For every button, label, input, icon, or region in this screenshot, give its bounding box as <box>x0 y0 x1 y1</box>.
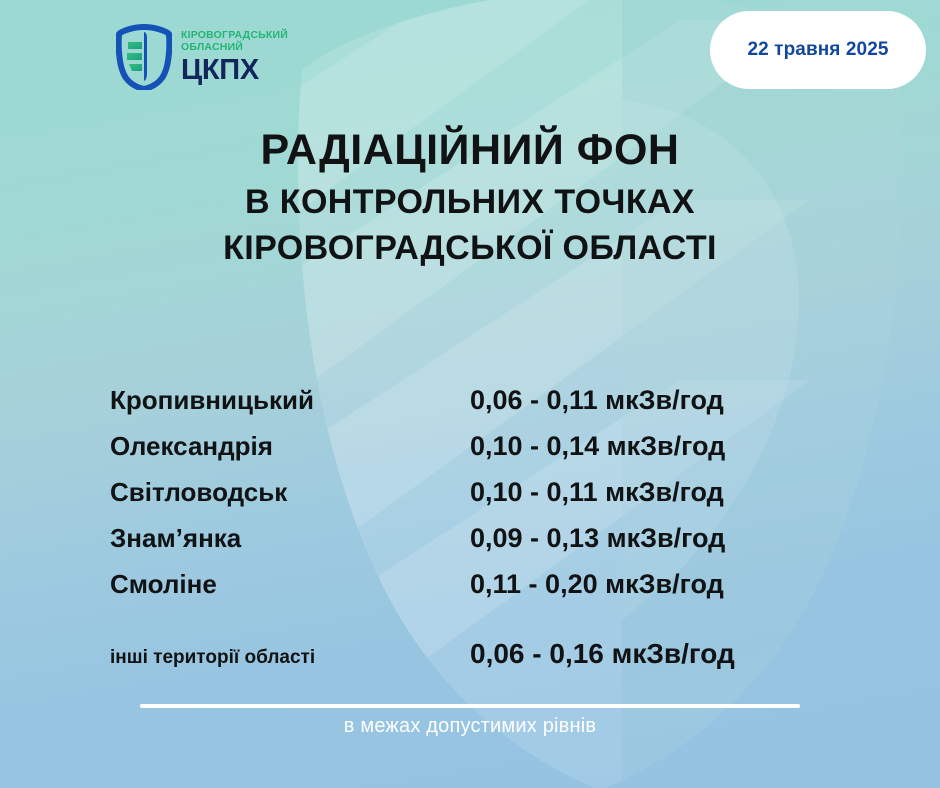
date-badge-text: 22 травня 2025 <box>747 39 888 61</box>
location-label: Світловодськ <box>110 477 470 508</box>
divider <box>140 704 800 708</box>
logo-acronym: ЦКПХ <box>181 56 288 85</box>
location-label: інші території області <box>110 647 470 669</box>
page-title: РАДІАЦІЙНИЙ ФОН В КОНТРОЛЬНИХ ТОЧКАХ КІР… <box>0 126 940 271</box>
reading-value: 0,06 - 0,11 мкЗв/год <box>470 385 724 416</box>
title-line-1: РАДІАЦІЙНИЙ ФОН <box>0 126 940 174</box>
location-label: Знам’янка <box>110 523 470 554</box>
table-row: Світловодськ 0,10 - 0,11 мкЗв/год <box>110 477 850 523</box>
reading-value: 0,09 - 0,13 мкЗв/год <box>470 523 725 554</box>
reading-value: 0,06 - 0,16 мкЗв/год <box>470 638 735 670</box>
location-label: Кропивницький <box>110 385 470 416</box>
table-row: Кропивницький 0,06 - 0,11 мкЗв/год <box>110 385 850 431</box>
footnote: в межах допустимих рівнів <box>0 715 940 738</box>
reading-value: 0,11 - 0,20 мкЗв/год <box>470 569 724 600</box>
organisation-logo: КІРОВОГРАДСЬКИЙ ОБЛАСНИЙ ЦКПХ <box>116 24 288 90</box>
title-line-2: В КОНТРОЛЬНИХ ТОЧКАХ <box>0 180 940 224</box>
table-row: Смоліне 0,11 - 0,20 мкЗв/год <box>110 569 850 615</box>
readings-table: Кропивницький 0,06 - 0,11 мкЗв/год Олекс… <box>110 385 850 680</box>
infographic-poster: КІРОВОГРАДСЬКИЙ ОБЛАСНИЙ ЦКПХ 22 травня … <box>0 0 940 788</box>
logo-subtitle-line2: ОБЛАСНИЙ <box>181 41 288 53</box>
table-row: Олександрія 0,10 - 0,14 мкЗв/год <box>110 431 850 477</box>
logo-wordmark: КІРОВОГРАДСЬКИЙ ОБЛАСНИЙ ЦКПХ <box>181 29 288 86</box>
shield-logo-icon <box>116 24 172 90</box>
date-badge: 22 травня 2025 <box>710 11 926 89</box>
location-label: Смоліне <box>110 569 470 600</box>
reading-value: 0,10 - 0,11 мкЗв/год <box>470 477 724 508</box>
logo-subtitle-line1: КІРОВОГРАДСЬКИЙ <box>181 29 288 41</box>
title-line-3: КІРОВОГРАДСЬКОЇ ОБЛАСТІ <box>0 226 940 270</box>
table-row-other-territories: інші території області 0,06 - 0,16 мкЗв/… <box>110 638 850 680</box>
table-row: Знам’янка 0,09 - 0,13 мкЗв/год <box>110 523 850 569</box>
location-label: Олександрія <box>110 431 470 462</box>
reading-value: 0,10 - 0,14 мкЗв/год <box>470 431 725 462</box>
